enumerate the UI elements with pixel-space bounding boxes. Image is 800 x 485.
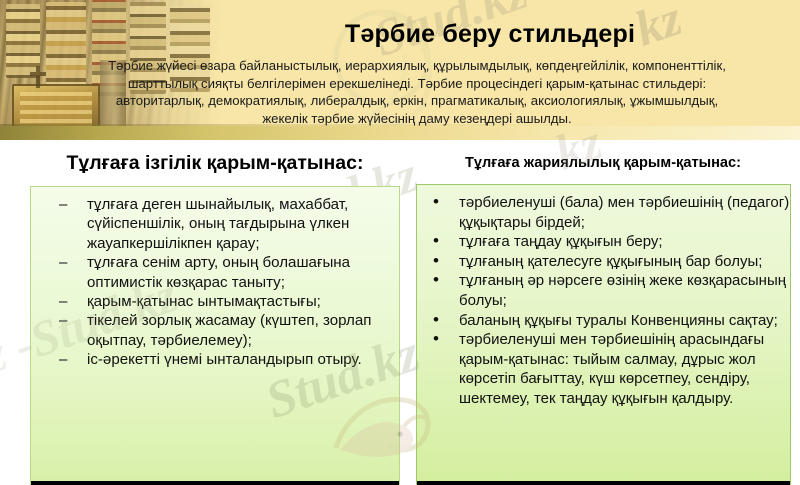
bullet-marker-icon: – [59, 292, 67, 311]
bullet-marker-icon: • [433, 310, 439, 330]
list-item: •тұлғаға таңдау құқығын беру; [417, 232, 790, 252]
bullet-marker-icon: – [59, 253, 67, 272]
list-item-text: тұлғаға деген шынайылық, махаббат, сүйіс… [87, 196, 349, 252]
list-item: •баланың құқығы туралы Конвенцияны сақта… [417, 311, 790, 331]
list-item: •тұлғаның қателесуге құқығының бар болуы… [417, 252, 790, 272]
list-item-text: іс-әрекетті үнемі ынталандырып отыру. [87, 351, 362, 368]
list-item-text: тұлғаға таңдау құқығын беру; [459, 233, 663, 250]
list-item: –тұлғаға сенім арту, оның болашағына опт… [31, 253, 399, 292]
right-content-panel: •тәрбиеленуші (бала) мен тәрбиешінің (пе… [416, 184, 791, 485]
list-item: –тікелей зорлық жасамау (күштеп, зорлап … [31, 311, 399, 350]
bullet-marker-icon: • [433, 329, 439, 349]
bullet-marker-icon: – [59, 350, 67, 369]
slide-header-band: kz Stud.kz Тәрбие беру стильдері Тәрбие … [0, 0, 800, 140]
list-item: •тәрбиеленуші (бала) мен тәрбиешінің (пе… [417, 193, 790, 232]
list-item-text: тәрбиеленуші мен тәрбиешінің арасындағы … [459, 331, 764, 407]
stained-glass-panel-1 [6, 4, 40, 78]
list-item-text: тұлғаның қателесуге құқығының бар болуы; [459, 253, 762, 270]
bullet-marker-icon: • [433, 270, 439, 290]
list-item-text: тұлғаның әр нәрсеге өзінің жеке көзқарас… [459, 272, 786, 309]
right-list-wrapper: •тәрбиеленуші (бала) мен тәрбиешінің (пе… [417, 193, 790, 409]
bullet-marker-icon: – [59, 311, 67, 330]
list-item-text: қарым-қатынас ынтымақтастығы; [87, 293, 321, 310]
list-item: • тәрбиеленуші мен тәрбиешінің арасындағ… [417, 330, 790, 408]
subtitle-line: шарттылық сияқты белгілерімен ерекшеліне… [46, 75, 788, 93]
page-title: Тәрбие беру стильдері [190, 20, 790, 49]
bullet-marker-icon: • [433, 251, 439, 271]
cross-icon [36, 66, 40, 88]
panel-bottom-edge [417, 481, 790, 485]
left-bullet-list: –тұлғаға деген шынайылық, махаббат, сүйі… [31, 195, 399, 370]
left-list-wrapper: –тұлғаға деген шынайылық, махаббат, сүйі… [31, 195, 399, 370]
left-column-heading: Тұлғаға ізгілік қарым-қатынас: [30, 152, 400, 175]
list-item-text: баланың құқығы туралы Конвенцияны сақтау… [459, 312, 778, 329]
header-gradient-strip [0, 126, 800, 140]
list-item: •тұлғаның әр нәрсеге өзінің жеке көзқара… [417, 271, 790, 310]
bullet-marker-icon: • [433, 192, 439, 212]
left-content-panel: –тұлғаға деген шынайылық, махаббат, сүйі… [30, 186, 400, 485]
list-item-text: тұлғаға сенім арту, оның болашағына опти… [87, 254, 350, 290]
list-item: –тұлғаға деген шынайылық, махаббат, сүйі… [31, 195, 399, 253]
bullet-marker-icon: – [59, 195, 67, 214]
list-item: –қарым-қатынас ынтымақтастығы; [31, 292, 399, 311]
list-item: –іс-әрекетті үнемі ынталандырып отыру. [31, 350, 399, 369]
subtitle-line: Тәрбие жүйесі өзара байланыстылық, иерар… [46, 57, 788, 75]
right-column-heading: Тұлғаға жариялылық қарым-қатынас: [416, 155, 790, 171]
bullet-marker-icon: • [433, 231, 439, 251]
list-item-text: тәрбиеленуші (бала) мен тәрбиешінің (пед… [459, 194, 789, 231]
right-bullet-list: •тәрбиеленуші (бала) мен тәрбиешінің (пе… [417, 193, 790, 409]
panel-bottom-edge [31, 481, 399, 485]
subtitle-line: жекелік тәрбие жүйесінің даму кезеңдері … [46, 110, 788, 128]
subtitle-line: авторитарлық, демократиялық, либералдық,… [46, 92, 788, 110]
list-item-text: тікелей зорлық жасамау (күштеп, зорлап о… [87, 312, 371, 348]
slide-subtitle: Тәрбие жүйесі өзара байланыстылық, иерар… [46, 57, 788, 127]
